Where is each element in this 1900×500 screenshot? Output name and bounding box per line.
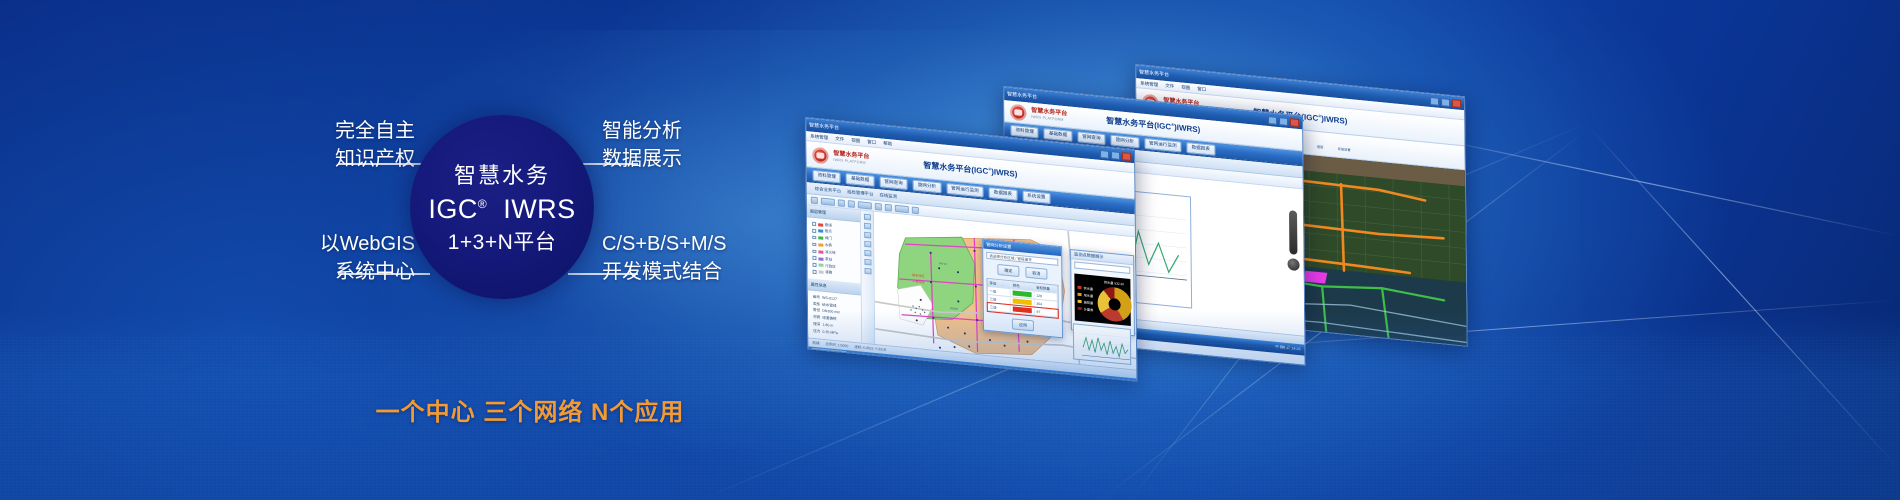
feature-line-1: 完全自主 [245,117,415,145]
dialog-apply-button[interactable]: 应用 [1012,318,1034,331]
tool-icon[interactable] [895,204,909,212]
tagline: 一个中心 三个网络 N个应用 [250,392,810,427]
zoom-out-tool-icon[interactable] [864,232,871,239]
hub-product-line: IGC® IWRS [428,194,575,224]
window-title-text: 智慧水务平台 [1007,90,1037,100]
toolbar-icon[interactable]: 图层 [1313,134,1328,153]
hub-platform: 1+3+N平台 [448,226,557,256]
nav-button[interactable]: 基础数据 [846,173,875,187]
dialog-cancel-button[interactable]: 取消 [1025,267,1047,280]
tool-icon[interactable] [885,203,892,211]
feature-label-bottom-left: 以WebGIS 系统中心 [228,230,415,287]
menu-item[interactable]: 视图 [1181,84,1190,91]
layer-color-chip [818,230,823,233]
cell-color [1011,305,1034,314]
color-swatch [1013,306,1031,313]
tool-icon[interactable] [858,201,872,209]
feature-line-2: 数据展示 [602,145,802,173]
tool-icon[interactable] [811,196,818,204]
app-title: 智慧水务平台(IGC®)IWRS) [1106,115,1200,135]
checkbox-icon[interactable] [812,249,816,253]
gis-map-view[interactable]: WS-01WS-07 DN300DN200 DN150DN400 供水分区一号片… [874,212,1136,370]
nav-button[interactable]: 管网分析 [1111,134,1140,148]
nav-button[interactable]: 数据报表 [989,187,1018,201]
nav-button[interactable]: 数据报表 [1187,142,1216,156]
hub-product-iwrs: IWRS [503,194,576,224]
toolbar-icon[interactable]: 系统设置 [1337,136,1352,155]
nav-button[interactable]: 管网查询 [879,176,908,190]
menu-item[interactable]: 窗口 [1197,86,1206,93]
water-logo-icon [812,146,828,164]
tool-icon[interactable] [912,206,919,214]
layer-color-chip [818,243,823,246]
layer-color-chip [818,257,823,260]
water-logo-icon [1010,103,1026,121]
identify-tool-icon[interactable] [864,259,871,266]
cell-count: 97 [1034,308,1057,317]
layer-color-chip [818,236,823,239]
legend-entry: 用水量 [1078,291,1094,298]
pan-tool-icon[interactable] [863,214,870,221]
pie-caption: 供水量 532.20 [1104,279,1124,286]
tool-icon[interactable] [821,197,835,205]
nav-button[interactable]: 系统设置 [1022,190,1051,204]
cell-level: 三级 [988,303,1011,312]
checkbox-icon[interactable] [812,236,816,240]
feature-label-top-right: 智能分析 数据展示 [602,117,802,174]
select-tool-icon[interactable] [864,241,871,248]
nav-button[interactable]: 基础数据 [1044,128,1073,142]
tool-icon[interactable] [875,202,882,210]
pie-chart-graphic [1097,286,1131,323]
color-swatch [1013,290,1031,297]
zoom-in-tool-icon[interactable] [864,223,871,230]
window-controls[interactable] [1100,149,1131,160]
checkbox-icon[interactable] [813,270,817,274]
chart-filter-input[interactable] [1074,261,1130,274]
checkbox-icon[interactable] [812,222,816,226]
layer-color-chip [818,271,823,274]
feature-label-top-left: 完全自主 知识产权 [245,117,415,174]
taskbar-tray[interactable]: 中 ⌨ 🔊 14:26 [1107,379,1132,382]
window-controls[interactable] [1430,96,1461,107]
connector-line-top-left [338,163,430,165]
connector-line-bottom-left [338,273,430,275]
map-navigation-pad[interactable] [1287,210,1300,297]
screenshot-window-front: 智慧水务平台 系统管理 文件 视图 窗口 帮助 智慧水务平台 IWRS PLAT… [805,117,1137,382]
menu-item[interactable]: 帮助 [883,140,892,147]
tool-icon[interactable] [848,200,855,208]
layer-tree-pane[interactable]: 图层管理 管线 管点 阀门 水表 消火栓 泵站 行政区 道路 属性信息 编号WS… [807,205,862,342]
app-title: 智慧水务平台(IGC®)IWRS) [923,160,1017,180]
banner-stage: 智慧水务平台 系统管理 文件 视图 窗口 智慧水务平台 IWRS PLATFOR… [0,0,1900,500]
brand-name: 智慧水务平台 IWRS PLATFORM [833,150,869,166]
layer-color-chip [818,223,823,226]
legend-entry: 漏损量 [1078,298,1094,305]
feature-line-1: 以WebGIS [228,230,415,258]
checkbox-icon[interactable] [813,263,817,267]
dialog-body: 请选择分析区域 / 管段编号 确定 取消 等级 颜色 管段数量 [983,248,1062,337]
feature-line-1: 智能分析 [602,117,802,145]
subnav-item[interactable]: 巡检管理平台 [847,189,873,198]
analysis-dialog[interactable]: 管网分析设置 请选择分析区域 / 管段编号 确定 取消 等级 [982,238,1063,338]
zoom-slider[interactable] [1289,210,1297,255]
measure-tool-icon[interactable] [864,250,871,257]
legend-entry: 计量差 [1078,305,1094,312]
menu-item[interactable]: 文件 [1165,82,1174,89]
dialog-table: 等级 颜色 管段数量 一级 128 二级 [986,278,1058,319]
tool-icon[interactable] [838,199,845,207]
taskbar-item[interactable]: 智慧水务平台 [812,348,846,360]
mini-trend-svg [1074,324,1131,365]
checkbox-icon[interactable] [812,229,816,233]
properties-header: 属性信息 [808,278,861,295]
checkbox-icon[interactable] [812,256,816,260]
status-item: 就绪 [812,340,819,346]
hub-product-igc: IGC [428,194,478,224]
feature-line-1: C/S+B/S+M/S [602,230,812,258]
subnav-item[interactable]: 综合业务平台 [815,185,841,194]
subnav-item[interactable]: 在线监测 [879,192,897,200]
pie-chart-panel: 供水量 用水量 漏损量 计量差 供水量 532.20 [1074,273,1130,326]
pie-legend: 供水量 用水量 漏损量 计量差 [1077,284,1093,312]
infographic: 完全自主 知识产权 以WebGIS 系统中心 智能分析 数据展示 C/S+B/S… [250,95,810,325]
feature-label-bottom-right: C/S+B/S+M/S 开发模式结合 [602,230,812,287]
menu-item[interactable]: 文件 [835,135,844,142]
window-controls[interactable] [1268,116,1299,127]
legend-entry: 供水量 [1077,284,1093,291]
brand-name: 智慧水务平台 IWRS PLATFORM [1031,107,1067,123]
print-tool-icon[interactable] [864,268,871,275]
dialog-confirm-button[interactable]: 确定 [997,264,1019,277]
window-title-text: 智慧水务平台 [1139,68,1169,78]
nav-button[interactable]: 管网查询 [1077,131,1106,145]
color-swatch [1013,298,1031,305]
connector-line-bottom-right [568,273,638,275]
nav-button[interactable]: 管网运行监测 [946,182,984,197]
checkbox-icon[interactable] [812,242,816,246]
window-title-text: 智慧水务平台 [809,121,839,131]
layer-color-chip [818,264,823,267]
menu-item[interactable]: 系统管理 [810,133,828,141]
dialog-footer-row[interactable]: 应用 [987,316,1059,334]
nav-button[interactable]: 管网分析 [913,179,942,193]
pan-compass-icon[interactable] [1287,258,1299,271]
nav-button[interactable]: 管网运行监测 [1144,137,1182,152]
layer-color-chip [818,250,823,253]
svg-text:WS-01: WS-01 [939,262,947,266]
hub-circle: 智慧水务 IGC® IWRS 1+3+N平台 [410,115,594,299]
hub-title-cn: 智慧水务 [454,158,550,190]
nav-button[interactable]: 资料管理 [1010,124,1039,138]
mini-trend-chart[interactable] [1073,323,1131,365]
nav-button[interactable]: 资料管理 [813,169,842,183]
taskbar-tray[interactable]: 中 ⌨ 🔊 14:26 [1275,345,1300,352]
registered-mark: ® [478,197,487,211]
menu-item[interactable]: 窗口 [867,139,876,146]
menu-item[interactable]: 系统管理 [1140,80,1158,88]
menu-item[interactable]: 视图 [851,137,860,144]
feature-line-2: 知识产权 [245,145,415,173]
